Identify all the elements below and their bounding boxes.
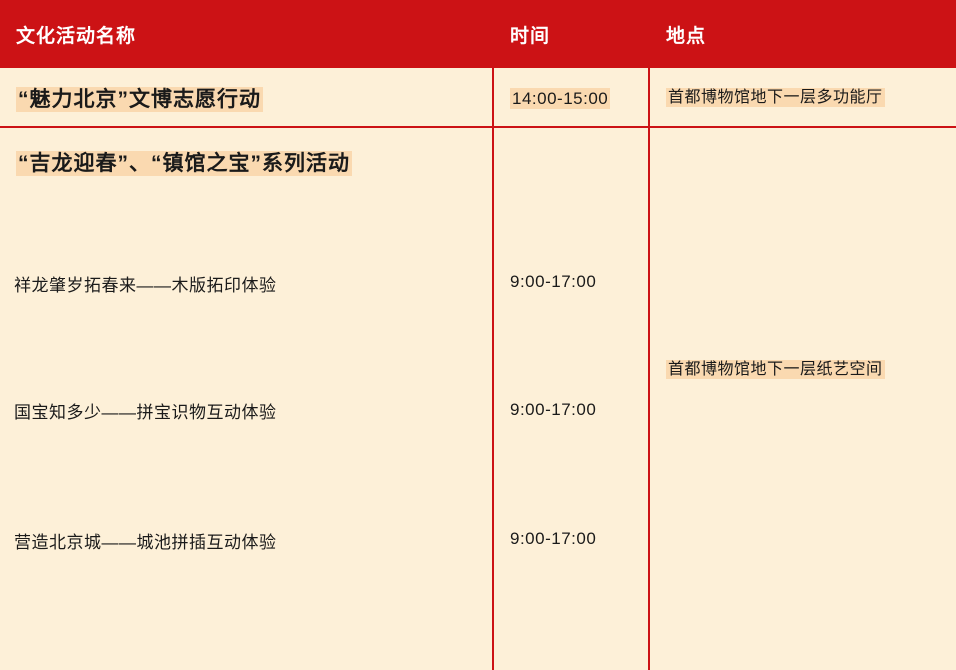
table-row: 9:00-17:00 9:00-17:00 9:00-17:00 [494,128,648,668]
column-header-time: 时间 [494,21,650,48]
activity-schedule-table: 文化活动名称 时间 地点 “魅力北京”文博志愿行动 “吉龙迎春”、“镇馆之宝”系… [0,0,956,670]
sub-activity-time-1: 9:00-17:00 [510,272,596,292]
activity-name-column: “魅力北京”文博志愿行动 “吉龙迎春”、“镇馆之宝”系列活动 祥龙肇岁拓春来——… [0,68,494,670]
table-row: 首都博物馆地下一层纸艺空间 [650,128,956,668]
table-row: “吉龙迎春”、“镇馆之宝”系列活动 祥龙肇岁拓春来——木版拓印体验 国宝知多少—… [0,128,492,668]
activity-place-2: 首都博物馆地下一层纸艺空间 [666,358,885,383]
column-header-place: 地点 [650,21,956,48]
sub-activity-name-1: 祥龙肇岁拓春来——木版拓印体验 [14,271,277,296]
activity-time-1-text: 14:00-15:00 [510,88,610,109]
activity-title-2-text: “吉龙迎春”、“镇馆之宝”系列活动 [16,151,352,176]
sub-activity-name-3: 营造北京城——城池拼插互动体验 [14,528,277,553]
sub-activity-time-2: 9:00-17:00 [510,400,596,420]
place-column: 首都博物馆地下一层多功能厅 首都博物馆地下一层纸艺空间 [650,68,956,670]
sub-activity-time-3: 9:00-17:00 [510,529,596,549]
activity-place-1-text: 首都博物馆地下一层多功能厅 [666,88,885,107]
activity-title-2: “吉龙迎春”、“镇馆之宝”系列活动 [16,148,352,181]
table-row: 14:00-15:00 [494,68,648,128]
activity-time-1: 14:00-15:00 [510,86,610,112]
activity-place-1: 首都博物馆地下一层多功能厅 [666,86,885,111]
table-header-row: 文化活动名称 时间 地点 [0,0,956,68]
table-body: “魅力北京”文博志愿行动 “吉龙迎春”、“镇馆之宝”系列活动 祥龙肇岁拓春来——… [0,68,956,670]
activity-place-2-text: 首都博物馆地下一层纸艺空间 [666,360,885,379]
table-row: “魅力北京”文博志愿行动 [0,68,492,128]
sub-activity-name-2: 国宝知多少——拼宝识物互动体验 [14,398,277,423]
column-header-activity-name: 文化活动名称 [0,21,494,48]
activity-title-1: “魅力北京”文博志愿行动 [16,84,263,117]
table-row: 首都博物馆地下一层多功能厅 [650,68,956,128]
activity-title-1-text: “魅力北京”文博志愿行动 [16,87,263,112]
time-column: 14:00-15:00 9:00-17:00 9:00-17:00 9:00-1… [494,68,650,670]
